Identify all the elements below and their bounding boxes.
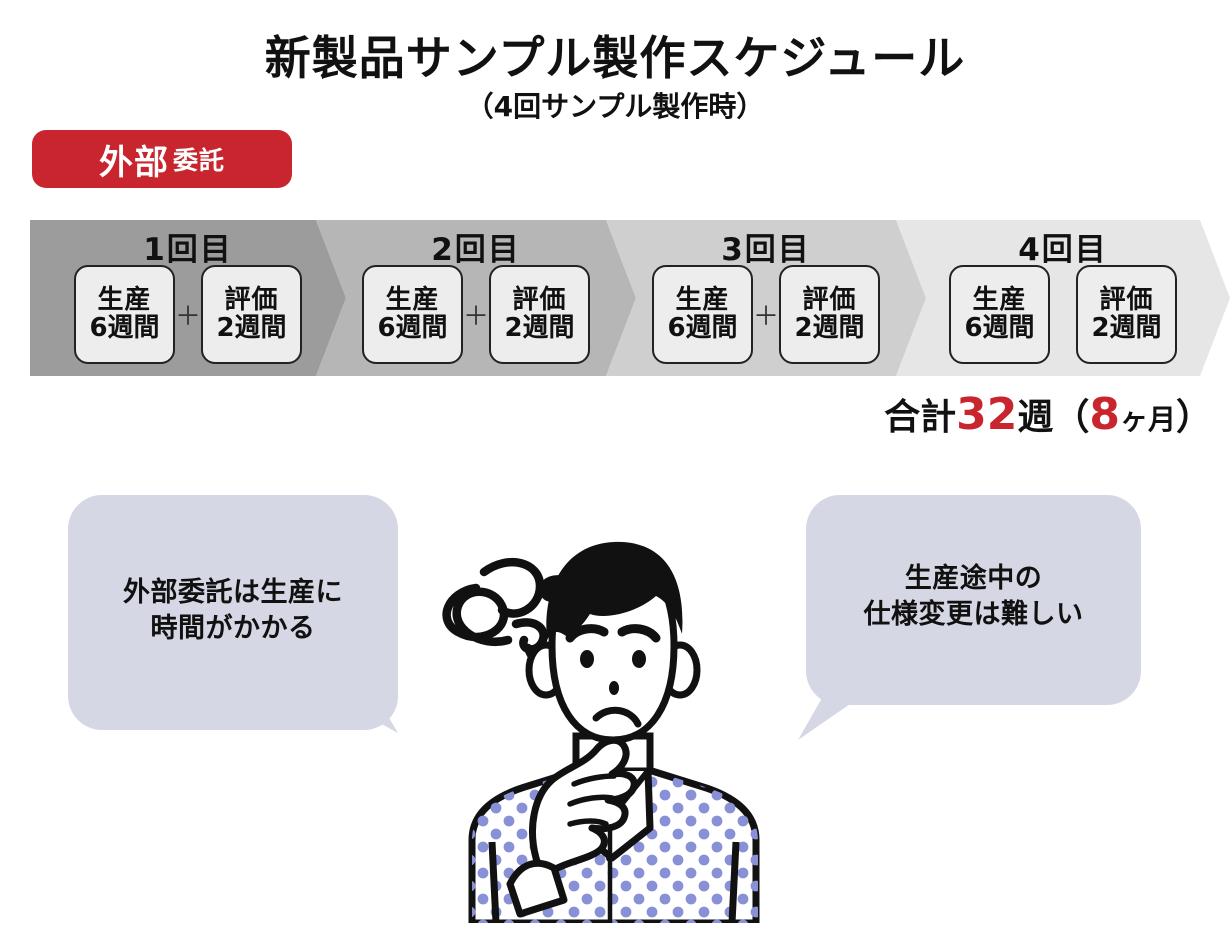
total-months-unit: ヶ月 [1120, 403, 1176, 436]
page-title: 新製品サンプル製作スケジュール [0, 22, 1230, 88]
badge-main-text: 外部 [99, 135, 169, 184]
task-box-production-2[interactable]: 生産 6週間 [362, 265, 463, 364]
callout-right-text: 生産途中の 仕様変更は難しい [806, 561, 1141, 633]
callout-right-line2: 仕様変更は難しい [806, 597, 1141, 633]
person-figure [424, 528, 796, 923]
task-box-production-4[interactable]: 生産 6週間 [949, 265, 1050, 364]
task-duration: 2週間 [504, 315, 574, 342]
task-duration: 2週間 [1091, 315, 1161, 342]
sleeve-left [492, 842, 496, 923]
timeline-stage-3[interactable]: 3回目 生産 6週間 ＋ 評価 2週間 [606, 220, 926, 376]
nose [609, 681, 619, 695]
task-box-evaluation-3[interactable]: 評価 2週間 [779, 265, 880, 364]
total-open-paren: （ [1053, 397, 1089, 438]
timeline-stage-1-label: 1回目 [30, 224, 346, 269]
eye-right [632, 650, 646, 668]
task-box-production-1[interactable]: 生産 6週間 [74, 265, 175, 364]
illustration-worried-businessman [424, 528, 796, 923]
callout-left-line2: 時間がかかる [68, 611, 398, 647]
task-name: 評価 [1099, 287, 1153, 314]
task-duration: 6週間 [377, 315, 447, 342]
task-duration: 2週間 [794, 315, 864, 342]
task-duration: 2週間 [216, 315, 286, 342]
task-name: 評価 [802, 287, 856, 314]
total-weeks-value: 32 [956, 389, 1017, 440]
task-box-production-3[interactable]: 生産 6週間 [652, 265, 753, 364]
eye-left [580, 650, 594, 668]
sleeve-right [732, 842, 736, 923]
callout-left-line1: 外部委託は生産に [68, 575, 398, 611]
task-separator-plus-2: ＋ [463, 296, 489, 333]
task-name: 生産 [972, 287, 1026, 314]
timeline-stage-3-label: 3回目 [606, 224, 926, 269]
badge-sub-text: 委託 [173, 141, 225, 177]
task-duration: 6週間 [89, 315, 159, 342]
timeline-stage-2[interactable]: 2回目 生産 6週間 ＋ 評価 2週間 [316, 220, 636, 376]
timeline-stage-4[interactable]: 4回目 生産 6週間 評価 2週間 [896, 220, 1230, 376]
task-box-evaluation-1[interactable]: 評価 2週間 [201, 265, 302, 364]
total-months-value: 8 [1089, 389, 1120, 440]
timeline-stage-2-label: 2回目 [316, 224, 636, 269]
task-name: 評価 [224, 287, 278, 314]
callout-right: 生産途中の 仕様変更は難しい [806, 495, 1141, 705]
timeline-stage-4-label: 4回目 [896, 224, 1230, 269]
total-duration: 合計32週（8ヶ月） [0, 388, 1212, 440]
total-prefix: 合計 [884, 397, 956, 438]
task-duration: 6週間 [667, 315, 737, 342]
total-close-paren: ） [1176, 397, 1212, 438]
status-badge-outsourcing: 外部 委託 [32, 130, 292, 188]
callout-right-line1: 生産途中の [806, 561, 1141, 597]
task-name: 生産 [97, 287, 151, 314]
task-name: 生産 [675, 287, 729, 314]
shirt-button [606, 854, 614, 862]
callout-left-text: 外部委託は生産に 時間がかかる [68, 575, 398, 647]
task-separator-plus-3: ＋ [753, 296, 779, 333]
task-duration: 6週間 [964, 315, 1034, 342]
schedule-timeline: 1回目 生産 6週間 ＋ 評価 2週間 2回目 生産 6週間 ＋ 評価 [30, 220, 1230, 376]
task-box-evaluation-2[interactable]: 評価 2週間 [489, 265, 590, 364]
timeline-stage-1[interactable]: 1回目 生産 6週間 ＋ 評価 2週間 [30, 220, 346, 376]
task-separator-plus-1: ＋ [175, 296, 201, 333]
task-box-evaluation-4[interactable]: 評価 2週間 [1076, 265, 1177, 364]
page-subtitle: （4回サンプル製作時） [0, 85, 1230, 125]
task-name: 評価 [512, 287, 566, 314]
callout-left: 外部委託は生産に 時間がかかる [68, 495, 398, 730]
task-name: 生産 [385, 287, 439, 314]
total-weeks-unit: 週 [1017, 397, 1053, 438]
